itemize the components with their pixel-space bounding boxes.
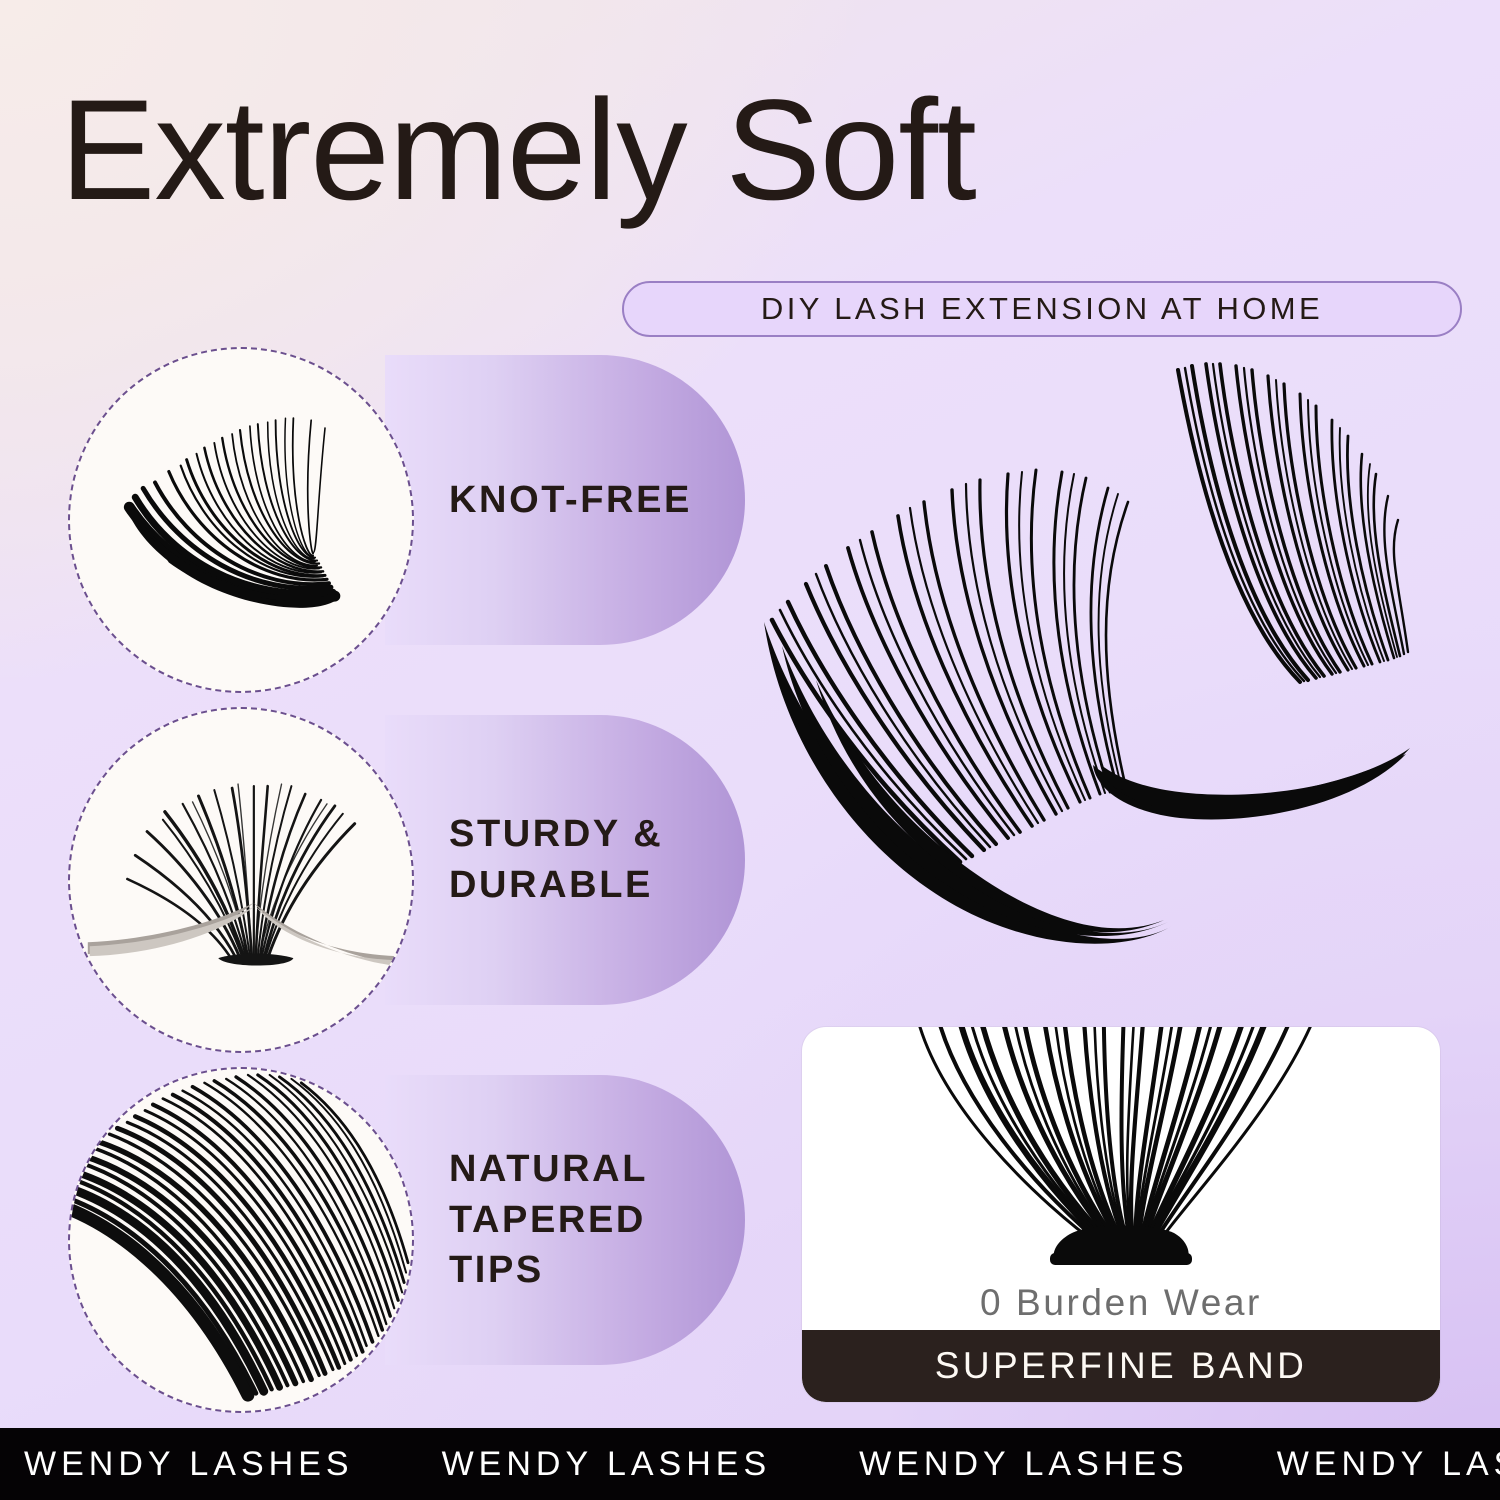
card-photo <box>802 1027 1440 1272</box>
brand-banner: WENDY LASHES WENDY LASHES WENDY LASHES W… <box>0 1428 1500 1500</box>
subtitle-badge: DIY LASH EXTENSION AT HOME <box>622 281 1462 337</box>
brand-text: WENDY LASHES <box>442 1445 772 1484</box>
subtitle-label: DIY LASH EXTENSION AT HOME <box>761 291 1323 327</box>
page-title: Extremely Soft <box>60 78 1460 224</box>
feature-image-sturdy-durable <box>68 707 414 1053</box>
product-card: 0 Burden Wear SUPERFINE BAND <box>802 1027 1440 1402</box>
feature-pill-natural-tapered-tips: NATURAL TAPERED TIPS <box>385 1075 745 1365</box>
hero-product-image <box>760 350 1480 970</box>
feature-image-knot-free <box>68 347 414 693</box>
lash-clusters-pair-icon <box>760 350 1480 970</box>
feature-pill-knot-free: KNOT-FREE <box>385 355 745 645</box>
lash-band-closeup-icon <box>802 1027 1440 1272</box>
card-footer-label: SUPERFINE BAND <box>935 1345 1307 1387</box>
feature-label: NATURAL TAPERED TIPS <box>449 1144 745 1297</box>
brand-text: WENDY LAS <box>1277 1445 1500 1484</box>
brand-text: WENDY LASHES <box>859 1445 1189 1484</box>
feature-image-natural-tapered-tips <box>68 1067 414 1413</box>
feature-pill-sturdy-durable: STURDY & DURABLE <box>385 715 745 1005</box>
lash-cluster-curl-icon <box>70 349 412 691</box>
card-footer-banner: SUPERFINE BAND <box>802 1330 1440 1402</box>
lash-tapered-tips-icon <box>70 1069 412 1411</box>
brand-text: WENDY LASHES <box>24 1445 354 1484</box>
feature-label: STURDY & DURABLE <box>449 809 663 911</box>
card-caption: 0 Burden Wear <box>802 1272 1440 1334</box>
feature-label: KNOT-FREE <box>449 475 692 526</box>
lash-cluster-tweezers-icon <box>70 709 412 1051</box>
